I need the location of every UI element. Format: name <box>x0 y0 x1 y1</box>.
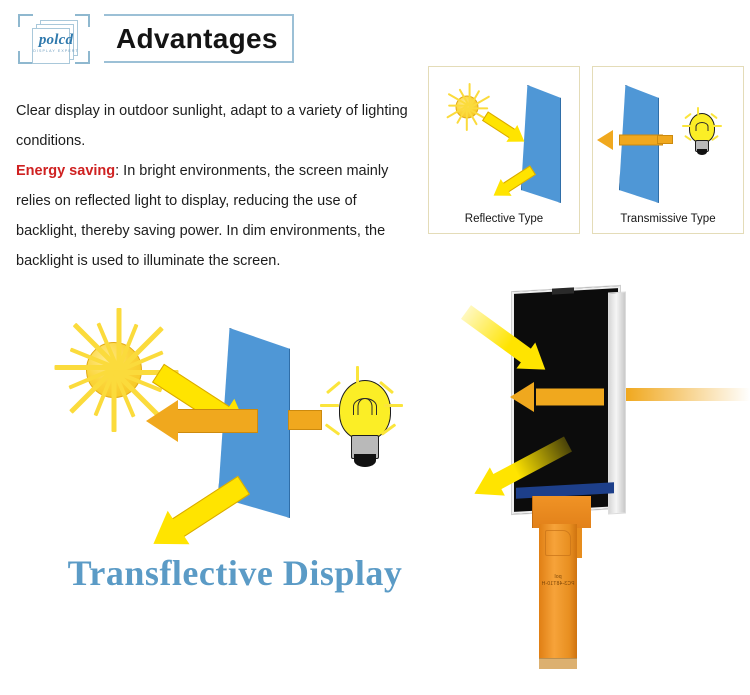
energy-saving-label: Energy saving <box>16 163 115 179</box>
paragraph-energy-saving: Energy saving: In bright environments, t… <box>16 156 416 276</box>
panel-reflective-type: Reflective Type <box>428 66 580 234</box>
backlight-source-beam <box>626 388 750 401</box>
panel-transmissive-type: Transmissive Type <box>592 66 744 234</box>
backlight-stub-arrow <box>288 410 322 430</box>
main-transflective-diagram <box>0 278 460 558</box>
lcd-module-photo: pol PC3-48T10-H <box>460 278 750 678</box>
fpc-connector-tip <box>539 658 577 669</box>
transmitted-light-arrow <box>146 400 258 442</box>
lcd-top-notch <box>552 287 574 294</box>
lcd-side-frame <box>608 291 626 514</box>
diagram-caption: Transflective Display <box>0 552 470 594</box>
brand-logo-text: polcd <box>28 33 84 48</box>
fpc-trace-pattern-icon <box>545 530 571 556</box>
logo-bracket-frame: polcd DISPLAY EXPERT <box>18 14 90 64</box>
panel-label-reflective: Reflective Type <box>429 213 579 225</box>
transmitted-light-arrow <box>510 382 604 412</box>
reflected-light-arrow <box>139 466 256 564</box>
paragraph-intro: Clear display in outdoor sunlight, adapt… <box>16 96 416 156</box>
description-text-block: Clear display in outdoor sunlight, adapt… <box>16 96 416 276</box>
light-bulb-icon <box>685 113 719 169</box>
bracket-corner-top-left <box>18 14 33 27</box>
transmitted-light-arrow <box>597 129 663 151</box>
backlight-stub-arrow <box>657 135 673 144</box>
page-title: Advantages <box>116 20 278 58</box>
brand-logo-subtitle: DISPLAY EXPERT <box>26 49 86 53</box>
light-bulb-icon <box>330 380 400 488</box>
fpc-print-text: pol PC3-48T10-H <box>539 574 577 588</box>
advantages-page: polcd DISPLAY EXPERT Advantages Clear di… <box>0 0 750 695</box>
panel-label-transmissive: Transmissive Type <box>593 213 743 225</box>
